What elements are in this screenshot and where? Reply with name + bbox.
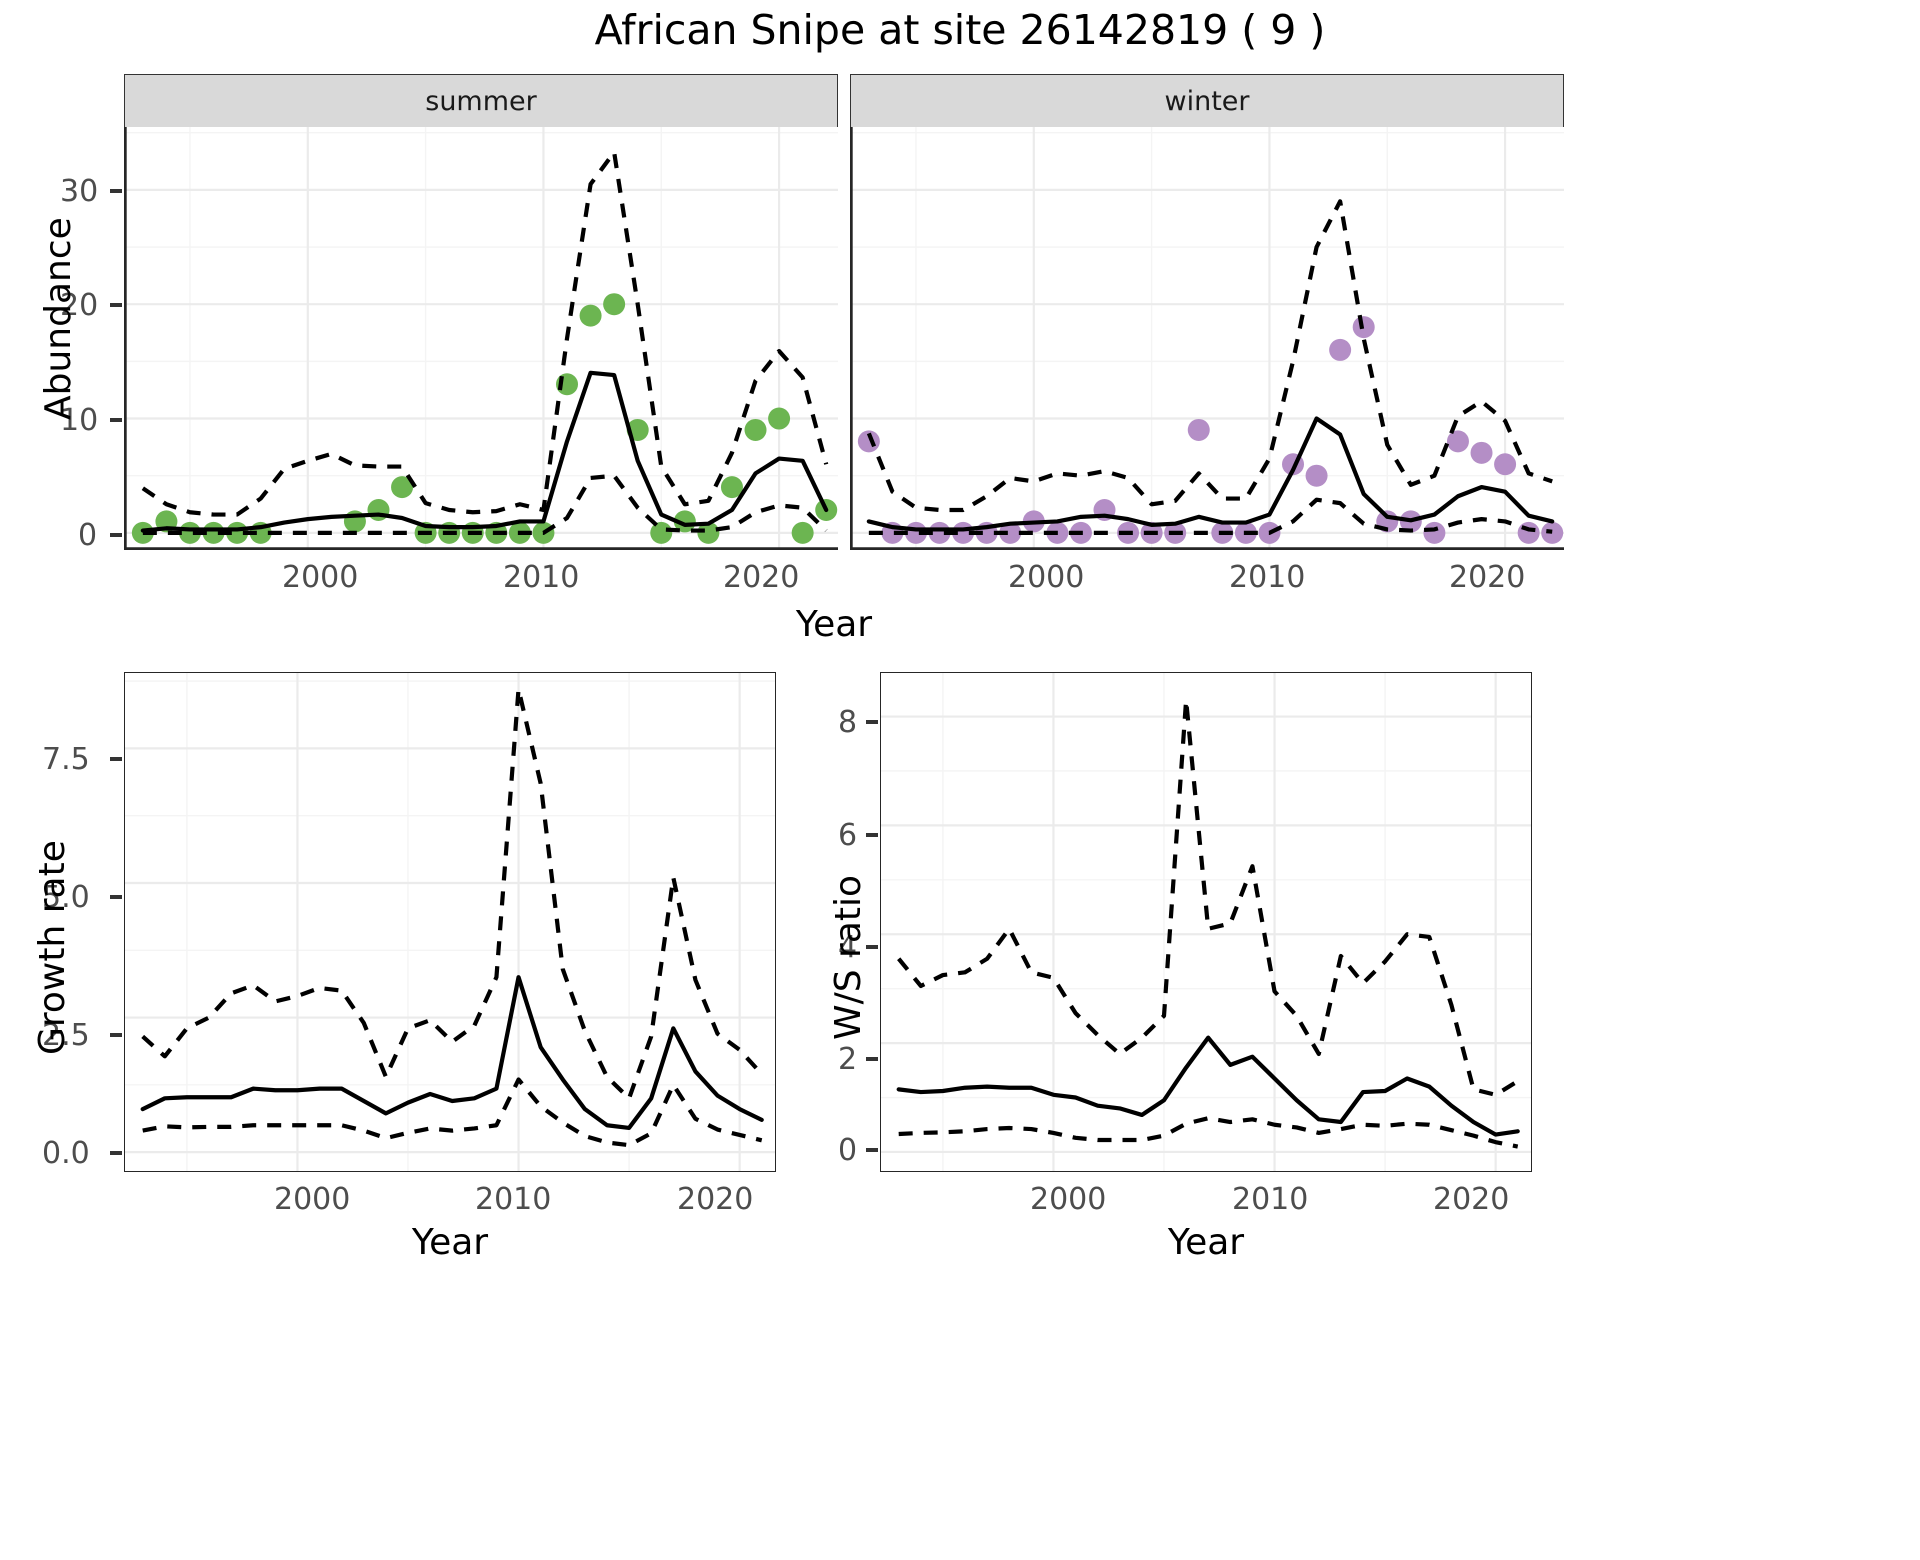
- yaxis-label-ratio: W/S ratio: [828, 875, 869, 1040]
- svg-abundance-winter: [850, 127, 1564, 550]
- ytick-abundance-0: 0: [78, 518, 97, 553]
- ytick-mark-20: [110, 303, 122, 307]
- ytick-mark-growth-0_0: [110, 1151, 122, 1155]
- ytick-abundance-30: 30: [60, 174, 98, 209]
- xtick-growth-2000: 2000: [274, 1182, 350, 1217]
- ytick-mark-10: [110, 418, 122, 422]
- figure-title: African Snipe at site 26142819 ( 9 ): [0, 6, 1920, 54]
- svg-abundance-summer: [124, 127, 838, 550]
- ytick-ratio-8: 8: [838, 705, 857, 740]
- plot-area-abundance-summer: [124, 127, 838, 550]
- ytick-mark-growth-7_5: [110, 757, 122, 761]
- xtick-ratio-2000: 2000: [1030, 1182, 1106, 1217]
- xtick-summer-2010: 2010: [503, 560, 579, 595]
- panel-abundance-summer: summer: [124, 74, 838, 550]
- xtick-winter-2020: 2020: [1449, 560, 1525, 595]
- xtick-winter-2000: 2000: [1008, 560, 1084, 595]
- facet-strip-summer-label: summer: [425, 86, 537, 117]
- facet-strip-winter: winter: [850, 74, 1564, 128]
- ytick-mark-30: [110, 189, 122, 193]
- facet-strip-winter-label: winter: [1165, 86, 1250, 117]
- xtick-summer-2000: 2000: [282, 560, 358, 595]
- xaxis-label-abundance: Year: [744, 604, 924, 645]
- figure-root: African Snipe at site 26142819 ( 9 ) sum…: [0, 0, 1920, 1560]
- xaxis-label-ratio: Year: [1116, 1222, 1296, 1263]
- xtick-ratio-2010: 2010: [1232, 1182, 1308, 1217]
- ytick-mark-0: [110, 533, 122, 537]
- svg-growth-rate: [125, 673, 775, 1171]
- xtick-winter-2010: 2010: [1229, 560, 1305, 595]
- facet-strip-summer: summer: [124, 74, 838, 128]
- xaxis-label-growth: Year: [360, 1222, 540, 1263]
- yaxis-label-abundance: Abundance: [38, 217, 79, 420]
- ytick-mark-ratio-6: [866, 833, 878, 837]
- xtick-summer-2020: 2020: [723, 560, 799, 595]
- ytick-mark-ratio-8: [866, 720, 878, 724]
- ytick-growth-7_5: 7.5: [42, 742, 90, 777]
- panel-ws-ratio: [880, 672, 1532, 1172]
- xtick-growth-2020: 2020: [677, 1182, 753, 1217]
- panel-abundance-winter: winter: [850, 74, 1564, 550]
- xtick-growth-2010: 2010: [475, 1182, 551, 1217]
- yaxis-label-growth: Growth rate: [32, 840, 73, 1055]
- plot-area-ws-ratio: [880, 672, 1532, 1172]
- svg-ws-ratio: [881, 673, 1531, 1171]
- ytick-ratio-2: 2: [838, 1042, 857, 1077]
- ytick-mark-ratio-2: [866, 1057, 878, 1061]
- ytick-mark-growth-5_0: [110, 895, 122, 899]
- plot-area-abundance-winter: [850, 127, 1564, 550]
- panel-growth-rate: [124, 672, 776, 1172]
- ytick-ratio-0: 0: [838, 1133, 857, 1168]
- plot-area-growth-rate: [124, 672, 776, 1172]
- ytick-mark-growth-2_5: [110, 1033, 122, 1037]
- ytick-mark-ratio-0: [866, 1148, 878, 1152]
- ytick-growth-0_0: 0.0: [42, 1136, 90, 1171]
- ytick-ratio-6: 6: [838, 818, 857, 853]
- xtick-ratio-2020: 2020: [1433, 1182, 1509, 1217]
